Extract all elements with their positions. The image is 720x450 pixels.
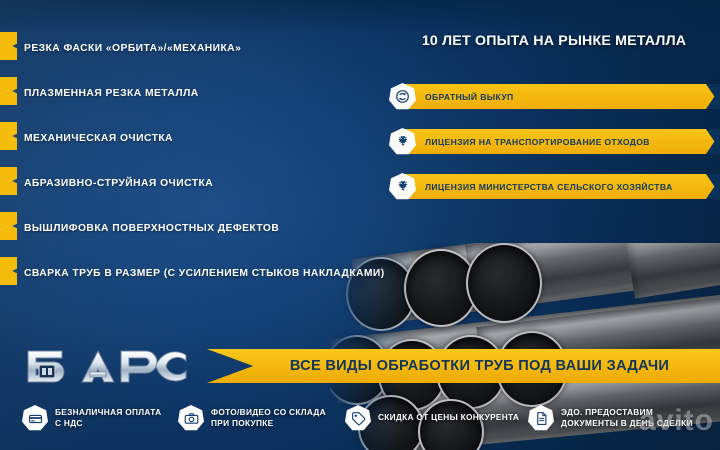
camera-icon <box>178 405 204 431</box>
company-logo <box>22 342 192 388</box>
price-tag-icon <box>345 405 371 431</box>
badge-label: ЛИЦЕНЗИЯ МИНИСТЕРСТВА СЕЛЬСКОГО ХОЗЯЙСТВ… <box>425 174 673 199</box>
service-item: СВАРКА ТРУБ В РАЗМЕР (С УСИЛЕНИЕМ СТЫКОВ… <box>0 251 390 296</box>
ribbon-tab-icon <box>0 212 17 240</box>
service-label: ВЫШЛИФОВКА ПОВЕРХНОСТНЫХ ДЕФЕКТОВ <box>24 223 279 234</box>
headline-experience: 10 ЛЕТ ОПЫТА НА РЫНКЕ МЕТАЛЛА <box>400 33 708 49</box>
service-item: МЕХАНИЧЕСКАЯ ОЧИСТКА <box>0 116 390 161</box>
services-list: РЕЗКА ФАСКИ «ОРБИТА»/«МЕХАНИКА» ПЛАЗМЕНН… <box>0 26 390 296</box>
badge-label: ОБРАТНЫЙ ВЫКУП <box>425 84 514 109</box>
service-item: АБРАЗИВНО-СТРУЙНАЯ ОЧИСТКА <box>0 161 390 206</box>
ribbon-tab-icon <box>0 122 17 150</box>
service-label: МЕХАНИЧЕСКАЯ ОЧИСТКА <box>24 133 173 144</box>
badge-label: ЛИЦЕНЗИЯ НА ТРАНСПОРТИРОВАНИЕ ОТХОДОВ <box>425 129 650 154</box>
credit-card-icon <box>22 405 48 431</box>
main-banner-label: ВСЕ ВИДЫ ОБРАБОТКИ ТРУБ ПОД ВАШИ ЗАДАЧИ <box>249 349 710 383</box>
advertisement-banner: РЕЗКА ФАСКИ «ОРБИТА»/«МЕХАНИКА» ПЛАЗМЕНН… <box>0 0 720 450</box>
feature-item: ЭДО. ПРЕДОСТАВИМДОКУМЕНТЫ В ДЕНЬ СДЕЛКИ <box>528 405 693 431</box>
ribbon-tab-icon <box>0 32 17 60</box>
feature-item: БЕЗНАЛИЧНАЯ ОПЛАТАС НДС <box>22 405 161 431</box>
feature-item: СКИДКА ОТ ЦЕНЫ КОНКУРЕНТА <box>345 405 519 431</box>
ribbon-tab-icon <box>0 257 17 285</box>
service-label: СВАРКА ТРУБ В РАЗМЕР (С УСИЛЕНИЕМ СТЫКОВ… <box>24 268 385 279</box>
service-label: АБРАЗИВНО-СТРУЙНАЯ ОЧИСТКА <box>24 178 213 189</box>
ribbon-tab-icon <box>0 167 17 195</box>
feature-label: СКИДКА ОТ ЦЕНЫ КОНКУРЕНТА <box>378 412 519 424</box>
badge-item: ЛИЦЕНЗИЯ МИНИСТЕРСТВА СЕЛЬСКОГО ХОЗЯЙСТВ… <box>389 174 720 199</box>
document-icon <box>528 405 554 431</box>
service-item: ПЛАЗМЕННАЯ РЕЗКА МЕТАЛЛА <box>0 71 390 116</box>
ribbon-tab-icon <box>0 77 17 105</box>
service-label: РЕЗКА ФАСКИ «ОРБИТА»/«МЕХАНИКА» <box>24 43 241 54</box>
badge-item: ОБРАТНЫЙ ВЫКУП <box>389 84 720 109</box>
features-strip: БЕЗНАЛИЧНАЯ ОПЛАТАС НДС ФОТО/ВИДЕО СО СК… <box>0 398 720 450</box>
badge-item: ЛИЦЕНЗИЯ НА ТРАНСПОРТИРОВАНИЕ ОТХОДОВ <box>389 129 720 154</box>
feature-label: ЭДО. ПРЕДОСТАВИМДОКУМЕНТЫ В ДЕНЬ СДЕЛКИ <box>561 407 693 430</box>
main-banner: ВСЕ ВИДЫ ОБРАБОТКИ ТРУБ ПОД ВАШИ ЗАДАЧИ <box>207 349 720 383</box>
feature-item: ФОТО/ВИДЕО СО СКЛАДАПРИ ПОКУПКЕ <box>178 405 326 431</box>
service-label: ПЛАЗМЕННАЯ РЕЗКА МЕТАЛЛА <box>24 88 199 99</box>
service-item: РЕЗКА ФАСКИ «ОРБИТА»/«МЕХАНИКА» <box>0 26 390 71</box>
feature-label: ФОТО/ВИДЕО СО СКЛАДАПРИ ПОКУПКЕ <box>211 407 326 430</box>
badges-list: ОБРАТНЫЙ ВЫКУП ЛИЦЕНЗИЯ НА ТРАНСПОРТИРОВ… <box>389 84 720 219</box>
service-item: ВЫШЛИФОВКА ПОВЕРХНОСТНЫХ ДЕФЕКТОВ <box>0 206 390 251</box>
feature-label: БЕЗНАЛИЧНАЯ ОПЛАТАС НДС <box>55 407 161 430</box>
